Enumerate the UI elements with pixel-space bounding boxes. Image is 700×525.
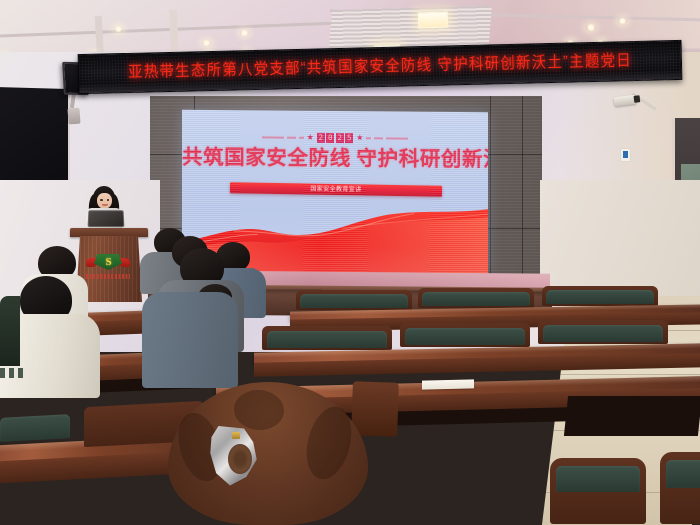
wall-outlet-plate <box>620 148 631 162</box>
attendee-blue-shirt <box>142 292 238 388</box>
acoustic-panel-left <box>0 87 70 187</box>
attendee-torso <box>142 292 238 388</box>
screen-title: 共筑国家安全防线 守护科研创新沃土 <box>182 146 488 174</box>
screen-subtitle-bar: 国家安全教育宣讲 <box>230 182 442 197</box>
conference-hall-photo: ★ 2 0 2 5 ★ 共筑国家安全防线 守护科研创新沃土 国家安全教育宣讲 <box>0 0 700 525</box>
shirt-print <box>0 368 26 378</box>
screen-subtitle-text: 国家安全教育宣讲 <box>310 186 361 193</box>
paper-sheet <box>422 379 474 389</box>
ceiling-downlight <box>240 30 249 36</box>
seat-back <box>543 325 663 342</box>
ceiling-downlight <box>202 40 211 46</box>
seat-back <box>405 328 525 345</box>
deco-dash <box>287 137 296 139</box>
seat-back <box>556 466 640 492</box>
year-digit: 5 <box>345 133 353 143</box>
front-wall-right <box>540 180 700 300</box>
ceiling-downlight <box>114 26 123 32</box>
presenter-eye <box>100 199 103 201</box>
deco-dash <box>366 137 371 139</box>
year-digit: 0 <box>326 133 334 143</box>
seat-back <box>267 331 387 348</box>
deco-dash <box>299 137 304 139</box>
ceiling-downlight <box>618 18 627 24</box>
seat-back <box>0 414 70 442</box>
ceiling-panel-light <box>418 11 449 28</box>
year-badge: 2 0 2 5 <box>317 133 354 143</box>
presenter-eye <box>107 199 110 201</box>
star-icon: ★ <box>356 134 363 142</box>
presenter-face <box>97 193 112 209</box>
star-icon: ★ <box>307 134 314 142</box>
laptop-lid <box>88 210 125 227</box>
seat-back <box>546 290 654 304</box>
seat-back <box>422 292 530 306</box>
ceiling-downlight <box>586 24 596 31</box>
seat-back <box>666 460 700 488</box>
deco-dash <box>262 136 284 138</box>
seat-back <box>300 294 408 308</box>
year-digit: 2 <box>317 133 325 143</box>
podium-laptop <box>88 210 124 230</box>
hair-clip-hinge <box>232 432 240 439</box>
screen-decoration-row: ★ 2 0 2 5 ★ <box>182 132 488 144</box>
presenter-mouth <box>102 204 108 206</box>
hair-clip-opening <box>228 444 252 474</box>
emblem-letter: S <box>104 256 113 268</box>
deco-dash <box>374 137 383 139</box>
year-digit: 2 <box>336 133 344 143</box>
hair-clip <box>208 426 266 488</box>
desk-understorage <box>564 396 700 436</box>
wall-speaker <box>67 108 80 125</box>
deco-dash <box>386 137 408 139</box>
attendee-dark-arm <box>0 296 20 366</box>
foreground-attendee <box>168 382 368 525</box>
